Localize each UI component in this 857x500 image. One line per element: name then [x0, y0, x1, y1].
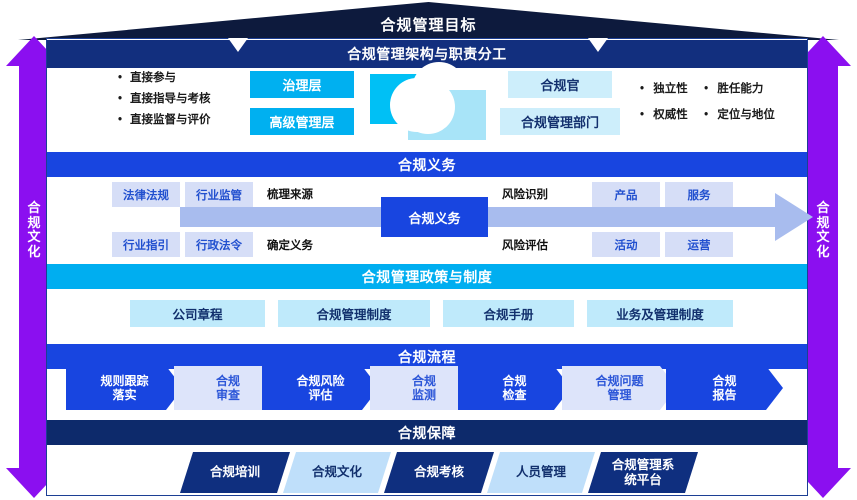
- guarantee-item-personnel-management[interactable]: 人员管理: [487, 452, 595, 493]
- section-header-guarantee: 合规保障: [47, 420, 807, 445]
- interlocking-rings-icon: [370, 74, 486, 140]
- obligation-target-operation[interactable]: 运营: [665, 232, 733, 257]
- process-step-line: 报告: [712, 388, 736, 402]
- section-header-policy: 合规管理政策与制度: [47, 264, 807, 289]
- bullet-dot-icon: •: [640, 109, 644, 121]
- guarantee-line: 合规管理系: [612, 458, 675, 472]
- obligation-caption-define-duties: 确定义务: [267, 237, 313, 253]
- obligation-source-laws[interactable]: 法律法规: [112, 182, 180, 207]
- bullet-dot-icon: •: [704, 109, 708, 121]
- ring-center-hole: [401, 80, 455, 134]
- architecture-left-bullets: 直接参与 直接指导与考核 直接监督与评价: [118, 68, 211, 131]
- policy-box-compliance-manual[interactable]: 合规手册: [443, 300, 574, 327]
- process-step-inspection[interactable]: 合规 检查: [458, 366, 571, 410]
- char: 化: [19, 245, 49, 260]
- section-header-obligations: 合规义务: [47, 152, 807, 177]
- obligation-caption-risk-assessment: 风险评估: [502, 237, 548, 253]
- guarantee-item-assessment[interactable]: 合规考核: [384, 452, 494, 493]
- guarantee-line: 统平台: [612, 473, 675, 487]
- process-step-line: 落实: [100, 388, 148, 402]
- obligation-caption-sort-sources: 梳理来源: [267, 186, 313, 202]
- process-step-line: 检查: [502, 388, 526, 402]
- guarantee-line: 合规文化: [312, 465, 362, 479]
- roof-title: 合规管理目标: [0, 14, 857, 35]
- process-step-risk-assessment[interactable]: 合规风险 评估: [262, 366, 379, 410]
- process-step-line: 监测: [412, 388, 436, 402]
- bullet-text: 权威性: [653, 109, 688, 121]
- process-step-rule-tracking[interactable]: 规则跟踪 落实: [66, 366, 183, 410]
- policy-box-business-management-system[interactable]: 业务及管理制度: [587, 300, 733, 327]
- guarantee-item-culture[interactable]: 合规文化: [283, 452, 391, 493]
- section-header-process: 合规流程: [47, 344, 807, 369]
- process-step-line: 合规问题: [595, 374, 643, 388]
- chip-compliance-department[interactable]: 合规管理部门: [500, 108, 620, 135]
- char: 文: [19, 230, 49, 245]
- process-step-line: 管理: [595, 388, 643, 402]
- process-step-line: 合规: [712, 374, 736, 388]
- obligations-content: 法律法规 行业监管 行业指引 行政法令 梳理来源 确定义务 合规义务 风险识别 …: [47, 177, 807, 263]
- bullet-row: • 权威性 • 定位与地位: [640, 102, 775, 128]
- policy-box-company-charter[interactable]: 公司章程: [130, 300, 265, 327]
- process-step-line: 合规: [216, 374, 240, 388]
- process-step-line: 规则跟踪: [100, 374, 148, 388]
- bullet-item: 直接监督与评价: [118, 110, 211, 131]
- char: 规: [808, 216, 838, 231]
- char: 规: [19, 216, 49, 231]
- bullet-item: 直接参与: [118, 68, 211, 89]
- bullet-row: • 独立性 • 胜任能力: [640, 76, 775, 102]
- process-step-reporting[interactable]: 合规 报告: [666, 366, 783, 410]
- guarantee-line: 合规考核: [414, 465, 464, 479]
- process-step-line: 合规: [502, 374, 526, 388]
- bullet-dot-icon: •: [640, 83, 644, 95]
- guarantee-line: 人员管理: [516, 465, 566, 479]
- process-step-issue-management[interactable]: 合规问题 管理: [562, 366, 677, 410]
- char: 文: [808, 230, 838, 245]
- bullet-item: 直接指导与考核: [118, 89, 211, 110]
- arrow-shaft: [19, 62, 49, 472]
- char: 合: [808, 201, 838, 216]
- bullet-text: 定位与地位: [717, 109, 775, 121]
- obligation-core-box[interactable]: 合规义务: [381, 197, 488, 237]
- process-step-line: 合规: [412, 374, 436, 388]
- bullet-dot-icon: •: [704, 83, 708, 95]
- compliance-management-framework-diagram: 合规管理目标 合 规 文 化 合 规 文 化 合规管理架构与职责分工 直接参与 …: [0, 0, 857, 500]
- obligation-target-activity[interactable]: 活动: [592, 232, 660, 257]
- char: 化: [808, 245, 838, 260]
- chip-governance-layer[interactable]: 治理层: [250, 71, 354, 98]
- chip-compliance-officer[interactable]: 合规官: [508, 71, 612, 98]
- obligation-target-service[interactable]: 服务: [665, 182, 733, 207]
- obligation-caption-risk-identification: 风险识别: [502, 186, 548, 202]
- guarantee-item-system-platform[interactable]: 合规管理系 统平台: [588, 452, 698, 493]
- bullet-text: 独立性: [653, 83, 688, 95]
- right-culture-label: 合 规 文 化: [808, 201, 838, 259]
- bullet-text: 胜任能力: [717, 83, 763, 95]
- left-culture-label: 合 规 文 化: [19, 201, 49, 259]
- chip-senior-management-layer[interactable]: 高级管理层: [250, 108, 354, 135]
- process-step-line: 评估: [296, 388, 344, 402]
- obligation-source-industry-regulation[interactable]: 行业监管: [185, 182, 253, 207]
- process-step-line: 审查: [216, 388, 240, 402]
- architecture-right-bullets: • 独立性 • 胜任能力 • 权威性 • 定位与地位: [640, 76, 775, 128]
- char: 合: [19, 201, 49, 216]
- process-step-line: 合规风险: [296, 374, 344, 388]
- obligation-target-product[interactable]: 产品: [592, 182, 660, 207]
- policy-box-compliance-system[interactable]: 合规管理制度: [278, 300, 430, 327]
- guarantee-item-training[interactable]: 合规培训: [180, 452, 290, 493]
- arrow-shaft: [808, 62, 838, 472]
- obligation-source-industry-guidance[interactable]: 行业指引: [112, 232, 180, 257]
- guarantee-line: 合规培训: [210, 465, 260, 479]
- obligation-source-administrative-decree[interactable]: 行政法令: [185, 232, 253, 257]
